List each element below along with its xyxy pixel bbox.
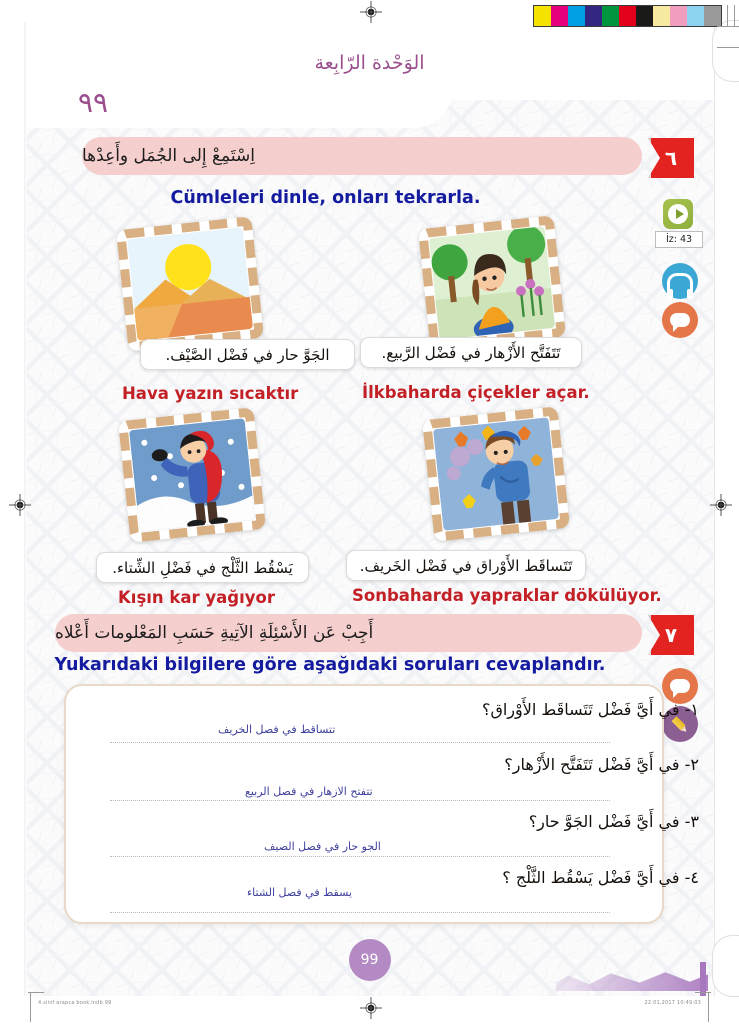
question-1-text: في أَيَّ فَضْل تَتَساقَط الأَوْراق؟ (482, 700, 680, 719)
color-swatch (619, 6, 636, 26)
picture-card-autumn (428, 413, 564, 535)
question-1-number: ١- (685, 700, 699, 719)
question-4-number: ٤- (685, 868, 699, 887)
color-swatch (534, 6, 551, 26)
color-calibration-bar (533, 5, 722, 27)
registration-mark-top (363, 4, 379, 20)
question-2: ٢- في أَيَّ فَضْل تَتَفَتَّح الأَزْهار؟ (504, 755, 699, 774)
page-number-badge: 99 (349, 939, 391, 981)
answer-2[interactable]: تتفتح الازهار في فصل الربيع (245, 785, 373, 798)
winter-illustration (129, 418, 255, 532)
headphone-icon[interactable] (662, 263, 698, 299)
audio-play-button[interactable] (663, 199, 693, 229)
unit-title: الوَحْدة الرّابِعة (0, 52, 739, 74)
page-notch-bottom (712, 935, 739, 997)
crop-mark (30, 992, 31, 1022)
question-2-text: في أَيَّ فَضْل تَتَفَتَّح الأَزْهار؟ (504, 755, 679, 774)
autumn-illustration (433, 417, 559, 531)
answer-line-4 (110, 912, 610, 913)
answer-line-1 (110, 742, 610, 743)
question-3-number: ٣- (685, 812, 699, 831)
question-1: ١- في أَيَّ فَضْل تَتَساقَط الأَوْراق؟ (482, 700, 699, 719)
color-swatch (704, 6, 721, 26)
color-swatch (636, 6, 653, 26)
caption-winter: Kışın kar yağıyor (118, 588, 275, 607)
color-swatch (585, 6, 602, 26)
answer-line-2 (110, 800, 610, 801)
answer-line-3 (110, 856, 610, 857)
picture-card-summer (122, 223, 258, 345)
play-icon (668, 204, 688, 224)
caption-summer: Hava yazın sıcaktır (122, 384, 298, 403)
caption-spring: İlkbaharda çiçekler açar. (362, 383, 590, 402)
textbook-page: الوَحْدة الرّابِعة ٩٩ اِسْتَمِعْ إِلى ال… (0, 0, 739, 1024)
sentence-box-winter: يَسْقُط الثَّلْج في فَضْلِ الشِّتاء. (96, 552, 309, 583)
registration-mark-right (713, 497, 729, 513)
exercise-7-banner: أَجِبْ عَن الأَسْئِلَةِ الآتِيةِ حَسَبِ … (55, 614, 642, 652)
picture-card-winter (124, 414, 260, 536)
question-3-text: في أَيَّ فَضْل الجَوَّ حار؟ (529, 812, 680, 831)
exercise-7-arabic-instruction: أَجِبْ عَن الأَسْئِلَةِ الآتِيةِ حَسَبِ … (55, 623, 373, 643)
exercise-6-arabic-instruction: اِسْتَمِعْ إِلى الجُمَل وأَعِدْها (82, 146, 255, 166)
color-swatch (551, 6, 568, 26)
answer-3[interactable]: الجو حار في فصل الصيف (264, 840, 381, 853)
color-swatch (670, 6, 687, 26)
exercise-6-banner: اِسْتَمِعْ إِلى الجُمَل وأَعِدْها (82, 137, 642, 175)
question-3: ٣- في أَيَّ فَضْل الجَوَّ حار؟ (529, 812, 699, 831)
audio-track-label: İz: 43 (655, 231, 703, 248)
exercise-7-turkish-instruction: Yukarıdaki bilgilere göre aşağıdaki soru… (0, 655, 660, 675)
color-swatch (568, 6, 585, 26)
crop-mark (717, 47, 739, 48)
sentence-box-summer: الجَوَّ حار في فَضْل الصَّيْف. (140, 339, 355, 370)
questions-card (64, 684, 664, 924)
footer-file-label: 4.sinif arapca book.indb 99 (38, 1000, 111, 1006)
color-swatch (653, 6, 670, 26)
caption-autumn: Sonbaharda yapraklar dökülüyor. (352, 586, 662, 605)
color-swatch (602, 6, 619, 26)
exercise-6-turkish-instruction: Cümleleri dinle, onları tekrarla. (0, 188, 651, 208)
question-4: ٤- في أَيَّ فَضْل يَسْقُط الثَّلْج ؟ (502, 868, 699, 887)
speech-bubble-icon[interactable] (662, 668, 698, 704)
registration-mark-bottom (363, 1000, 379, 1016)
sentence-box-autumn: تَتَساقَط الأَوْراق في فَضْل الخَريف. (346, 550, 586, 581)
page-number-top: ٩٩ (78, 86, 108, 119)
footer-timestamp: 22.01.2017 10:49:03 (645, 1000, 701, 1006)
speech-bubble-icon[interactable] (662, 302, 698, 338)
crop-mark (708, 992, 709, 1022)
picture-card-spring (424, 222, 560, 344)
answer-4[interactable]: يسقط في فصل الشتاء (247, 886, 352, 899)
summer-illustration (127, 227, 253, 341)
registration-mark-left (12, 497, 28, 513)
spring-illustration (429, 226, 555, 340)
crop-mark (727, 5, 728, 27)
answer-1[interactable]: تتساقط في فصل الخريف (218, 723, 335, 736)
question-2-number: ٢- (685, 755, 699, 774)
question-4-text: في أَيَّ فَضْل يَسْقُط الثَّلْج ؟ (502, 868, 679, 887)
sentence-box-spring: تَتَفَتَّح الأَزْهار في فَضْل الرَّبيع. (360, 337, 582, 368)
crop-mark (695, 992, 711, 993)
crop-mark (717, 26, 739, 27)
brush-bar-decoration (700, 962, 706, 996)
color-swatch (687, 6, 704, 26)
crop-mark (734, 5, 735, 27)
